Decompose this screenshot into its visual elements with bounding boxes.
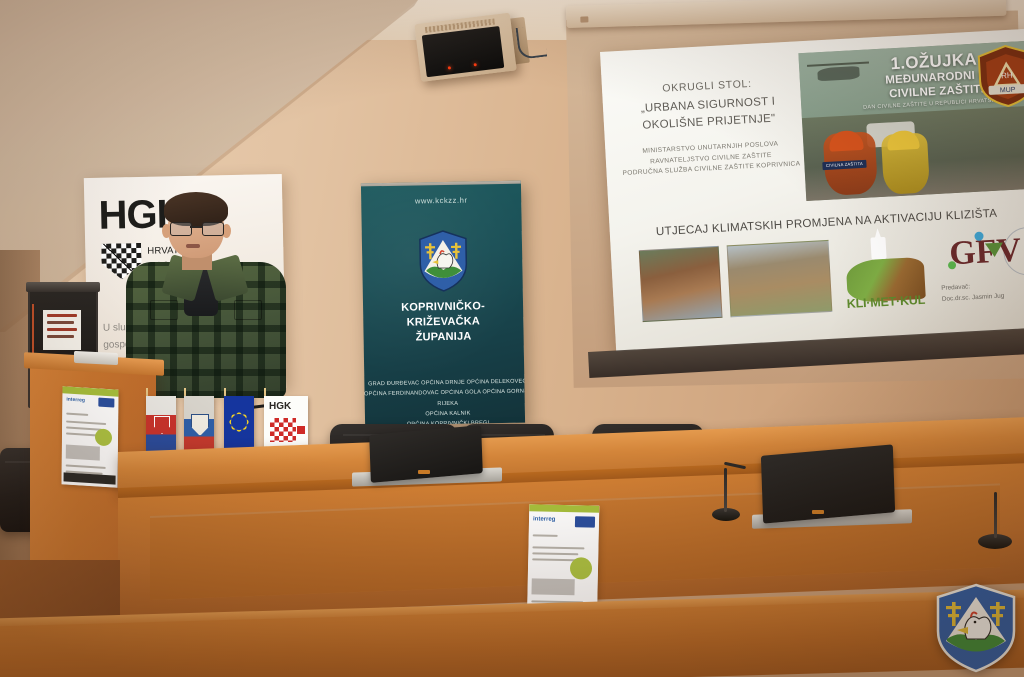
county-municipality-list: GRAD ĐURĐEVAC OPĆINA DRNJE OPĆINA DELEKO… <box>361 376 525 425</box>
slide-thumbnails: KLI·MET·KUL GFV Predavač: Doc.dr.sc. Jas… <box>639 229 1024 322</box>
podium-interreg-poster: interreg <box>61 386 118 487</box>
rack-top-plate <box>26 282 100 292</box>
poster-line-5 <box>66 464 106 468</box>
lens-left <box>170 222 192 236</box>
county-name-line-1: KOPRIVNIČKO-KRIŽEVAČKA <box>367 299 519 331</box>
svg-text:MUP: MUP <box>1000 87 1016 95</box>
county-banner-name: KOPRIVNIČKO-KRIŽEVAČKA ŽUPANIJA <box>367 299 520 346</box>
table-poster-line-1 <box>533 534 558 536</box>
conference-room-photo: OKRUGLI STOL: „URBANA SIGURNOST I OKOLIŠ… <box>0 0 1024 677</box>
heater-led-right <box>474 63 477 66</box>
table-poster-green-circle <box>570 557 592 579</box>
gfv-triangle <box>985 242 1004 257</box>
rack-paper-sign <box>43 310 81 350</box>
county-coat-of-arms-icon <box>418 230 469 293</box>
table-poster-top-bar <box>529 504 599 512</box>
glasses-bridge <box>190 226 202 228</box>
sign-line-4 <box>47 335 74 338</box>
presentation-slide: OKRUGLI STOL: „URBANA SIGURNOST I OKOLIŠ… <box>600 29 1024 352</box>
poster-line-2 <box>66 421 106 425</box>
mouth <box>186 244 200 248</box>
poster-footer-bar <box>64 472 116 484</box>
table-poster-line-2 <box>532 546 584 549</box>
sign-line-1 <box>47 314 77 317</box>
heater-led-left <box>448 66 451 69</box>
civil-protection-photo: CIVILNA ZAŠTITA 1.OŽUJKA MEĐUNARODNI DAN… <box>798 41 1024 201</box>
mic-1-stem <box>724 468 727 512</box>
presenter-block: Predavač: Doc.dr.sc. Jasmin Jug <box>941 281 1005 306</box>
klimetkul-logo: KLI·MET·KUL <box>838 231 928 312</box>
slide-text-block: OKRUGLI STOL: „URBANA SIGURNOST I OKOLIŠ… <box>612 75 807 179</box>
sign-line-3 <box>47 328 77 331</box>
sign-line-2 <box>47 321 74 324</box>
laptop-left-lid <box>369 425 483 483</box>
projection-screen: OKRUGLI STOL: „URBANA SIGURNOST I OKOLIŠ… <box>600 29 1024 352</box>
wall-heater <box>414 12 521 90</box>
table-poster-paragraph <box>531 578 575 595</box>
county-name-line-2: ŽUPANIJA <box>367 328 519 345</box>
laptop-right-hinge <box>812 510 824 514</box>
svg-text:RH: RH <box>1001 71 1013 81</box>
laptop-right-lid <box>761 444 895 523</box>
poster-green-circle <box>95 428 112 446</box>
county-banner: www.kckzz.hr KOPRIVNIČKO-KRIŽEVAČKA ŽUPA… <box>361 181 525 426</box>
slide-title: „URBANA SIGURNOST I OKOLIŠNE PRIJETNJE" <box>613 92 805 136</box>
hair <box>164 192 228 226</box>
poster-line-1 <box>66 413 88 416</box>
shirt-pocket-left <box>150 300 178 320</box>
eyeglasses <box>170 222 222 234</box>
mic-2-stem <box>994 492 997 538</box>
heater-body <box>414 13 516 82</box>
landslide-photo-2 <box>727 240 833 317</box>
presenter-name: Doc.dr.sc. Jasmin Jug <box>942 291 1005 305</box>
table-eu-flag-icon <box>575 516 595 527</box>
flag-eu <box>224 396 254 454</box>
poster-line-3 <box>66 426 102 430</box>
watermark-coat-of-arms <box>934 583 1018 673</box>
heater-panel <box>422 26 505 77</box>
landslide-photo-1 <box>639 246 723 322</box>
eu-flag-icon <box>98 398 114 408</box>
table-interreg-logo-text: interreg <box>533 516 555 522</box>
poster-body: interreg <box>61 386 118 487</box>
podium-laptop <box>74 351 118 365</box>
flag-croatia <box>146 396 176 454</box>
laptop-left-hinge <box>418 470 430 474</box>
civil-protection-badge-icon: RH MUP <box>974 42 1024 109</box>
flag-hgk-text: HGK <box>269 401 291 412</box>
gfv-logo: GFV <box>944 228 1011 279</box>
lens-right <box>202 222 224 236</box>
table-poster-line-3 <box>532 552 578 555</box>
municipality-line-2: OPĆINA FERDINANDOVAC OPĆINA GOLA OPĆINA … <box>361 387 525 411</box>
county-website-url: www.kckzz.hr <box>361 195 521 207</box>
church-icon <box>870 237 886 260</box>
flag-county <box>184 396 214 454</box>
poster-paragraph-block <box>66 444 100 460</box>
shirt-pocket-right <box>234 300 262 320</box>
interreg-logo-text: interreg <box>66 397 85 404</box>
